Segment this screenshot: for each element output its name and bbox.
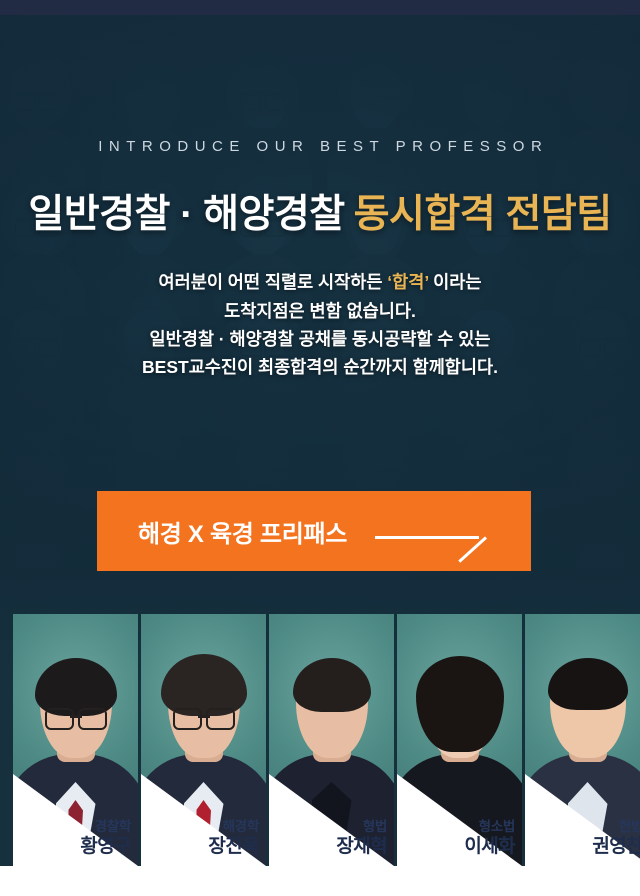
professor-subject: 형소법 [464, 819, 515, 835]
arrow-right-icon [375, 514, 485, 548]
portrait-hair [416, 656, 504, 752]
bottom-background [0, 866, 640, 896]
headline-gold-part: 동시합격 전담팀 [354, 193, 612, 236]
professor-caption: 형소법 이세화 [464, 819, 515, 858]
headline-white-part: 일반경찰 · 해양경찰 [28, 193, 344, 236]
professor-subject: 해경학 [208, 819, 259, 835]
description-line-1a: 여러분이 어떤 직렬로 시작하든 [159, 272, 388, 292]
eyebrow-text: INTRODUCE OUR BEST PROFESSOR [0, 138, 640, 155]
professor-card[interactable]: 경찰학 황영구 [13, 614, 138, 866]
promo-banner: INTRODUCE OUR BEST PROFESSOR 일반경찰 · 해양경찰… [0, 0, 640, 896]
cta-label: 해경 X 육경 프리패스 [138, 514, 347, 549]
professor-name: 권영찬 [592, 836, 640, 858]
professor-name: 이세화 [464, 836, 515, 858]
professor-caption: 경찰학 황영구 [80, 819, 131, 858]
freepass-cta-button[interactable]: 해경 X 육경 프리패스 [97, 491, 531, 571]
professor-name: 장재혁 [336, 836, 387, 858]
professor-subject: 경찰학 [80, 819, 131, 835]
professor-name: 황영구 [80, 836, 131, 858]
professor-subject: 헌법 [592, 819, 640, 835]
description-line-1b: 이라는 [429, 272, 482, 292]
professor-caption: 형법 장재혁 [336, 819, 387, 858]
professor-subject: 형법 [336, 819, 387, 835]
professor-card[interactable]: 형소법 이세화 [397, 614, 522, 866]
description-line-3: 일반경찰 · 해양경찰 공채를 동시공략할 수 있는 [0, 325, 640, 353]
professor-caption: 헌법 권영찬 [592, 819, 640, 858]
description-line-4: BEST교수진이 최종합격의 순간까지 함께합니다. [0, 353, 640, 381]
professor-caption: 해경학 장진욱 [208, 819, 259, 858]
page-title: 일반경찰 · 해양경찰동시합격 전담팀 [0, 194, 640, 235]
hero-description: 여러분이 어떤 직렬로 시작하든 ‘합격’ 이라는 도착지점은 변함 없습니다.… [0, 268, 640, 381]
description-line-2: 도착지점은 변함 없습니다. [0, 297, 640, 325]
professor-card[interactable]: 헌법 권영찬 [525, 614, 640, 866]
professor-card-list: 경찰학 황영구 해경학 장진욱 [13, 614, 640, 866]
professor-card[interactable]: 해경학 장진욱 [141, 614, 266, 866]
description-line-1: 여러분이 어떤 직렬로 시작하든 ‘합격’ 이라는 [0, 268, 640, 296]
description-highlight: ‘합격’ [387, 272, 428, 292]
glasses-icon [45, 708, 107, 726]
glasses-icon [173, 708, 235, 726]
professor-name: 장진욱 [208, 836, 259, 858]
professor-card[interactable]: 형법 장재혁 [269, 614, 394, 866]
top-bar [0, 0, 640, 15]
